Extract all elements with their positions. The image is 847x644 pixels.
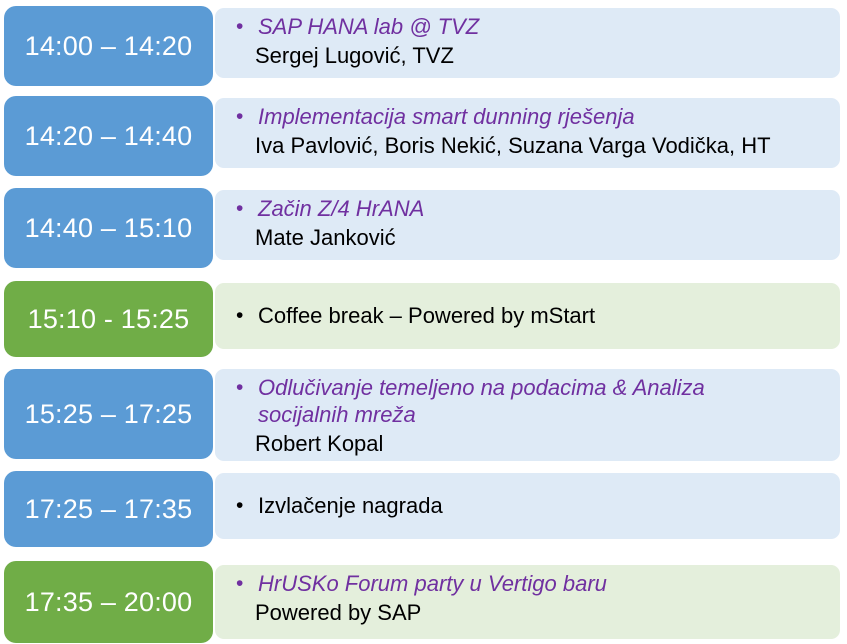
time-slot-badge[interactable]: 17:25 – 17:35 (4, 471, 213, 547)
bullet-icon: • (233, 493, 258, 519)
bullet-icon: • (233, 196, 258, 222)
bullet-icon: • (233, 375, 258, 401)
agenda-row: 15:25 – 17:25 • Odlučivanje temeljeno na… (0, 369, 847, 459)
session-title: Izvlačenje nagrada (258, 493, 443, 520)
session-title: Coffee break – Powered by mStart (258, 303, 595, 330)
session-speaker-line: Mate Janković (233, 223, 828, 252)
session-title-line: • Začin Z/4 HrANA (233, 196, 828, 223)
time-slot-label: 15:25 – 17:25 (25, 399, 193, 430)
time-slot-badge[interactable]: 17:35 – 20:00 (4, 561, 213, 643)
session-title: HrUSKo Forum party u Vertigo baru (258, 571, 607, 598)
session-title-line: • Coffee break – Powered by mStart (233, 303, 595, 330)
session-title-line: • Izvlačenje nagrada (233, 493, 443, 520)
session-speaker: Powered by SAP (255, 598, 421, 627)
session-title-line: • Odlučivanje temeljeno na podacima & An… (233, 375, 828, 429)
time-slot-label: 17:25 – 17:35 (25, 494, 193, 525)
session-panel[interactable]: • Implementacija smart dunning rješenja … (215, 98, 840, 168)
session-panel[interactable]: • HrUSKo Forum party u Vertigo baru Powe… (215, 565, 840, 639)
session-title: Začin Z/4 HrANA (258, 196, 424, 223)
time-slot-label: 15:10 - 15:25 (28, 304, 190, 335)
session-title-line: • SAP HANA lab @ TVZ (233, 14, 828, 41)
time-slot-label: 14:00 – 14:20 (25, 31, 193, 62)
time-slot-badge[interactable]: 14:00 – 14:20 (4, 6, 213, 86)
bullet-icon: • (233, 303, 258, 329)
session-panel[interactable]: • SAP HANA lab @ TVZ Sergej Lugović, TVZ (215, 8, 840, 78)
bullet-icon: • (233, 14, 258, 40)
time-slot-label: 14:40 – 15:10 (25, 213, 193, 244)
session-panel[interactable]: • Odlučivanje temeljeno na podacima & An… (215, 369, 840, 461)
session-title: Odlučivanje temeljeno na podacima & Anal… (258, 375, 705, 429)
agenda-row: 15:10 - 15:25 • Coffee break – Powered b… (0, 281, 847, 357)
agenda-row: 17:35 – 20:00 • HrUSKo Forum party u Ver… (0, 561, 847, 643)
session-speaker: Mate Janković (255, 223, 396, 252)
agenda-row: 14:40 – 15:10 • Začin Z/4 HrANA Mate Jan… (0, 188, 847, 268)
bullet-icon: • (233, 571, 258, 597)
session-panel[interactable]: • Coffee break – Powered by mStart (215, 283, 840, 349)
session-title-line: • Implementacija smart dunning rješenja (233, 104, 828, 131)
time-slot-badge[interactable]: 14:40 – 15:10 (4, 188, 213, 268)
agenda-row: 14:20 – 14:40 • Implementacija smart dun… (0, 96, 847, 176)
session-panel[interactable]: • Začin Z/4 HrANA Mate Janković (215, 190, 840, 260)
agenda-schedule: 14:00 – 14:20 • SAP HANA lab @ TVZ Serge… (0, 0, 847, 644)
session-speaker-line: Iva Pavlović, Boris Nekić, Suzana Varga … (233, 131, 828, 160)
agenda-row: 17:25 – 17:35 • Izvlačenje nagrada (0, 471, 847, 547)
session-speaker-line: Powered by SAP (233, 598, 828, 627)
session-title: Implementacija smart dunning rješenja (258, 104, 635, 131)
session-panel[interactable]: • Izvlačenje nagrada (215, 473, 840, 539)
time-slot-label: 17:35 – 20:00 (25, 587, 193, 618)
session-speaker: Iva Pavlović, Boris Nekić, Suzana Varga … (255, 131, 771, 160)
bullet-icon: • (233, 104, 258, 130)
time-slot-label: 14:20 – 14:40 (25, 121, 193, 152)
session-speaker: Robert Kopal (255, 429, 383, 458)
agenda-row: 14:00 – 14:20 • SAP HANA lab @ TVZ Serge… (0, 6, 847, 86)
session-title: SAP HANA lab @ TVZ (258, 14, 479, 41)
session-speaker-line: Robert Kopal (233, 429, 828, 458)
session-speaker: Sergej Lugović, TVZ (255, 41, 454, 70)
time-slot-badge[interactable]: 15:25 – 17:25 (4, 369, 213, 459)
time-slot-badge[interactable]: 15:10 - 15:25 (4, 281, 213, 357)
time-slot-badge[interactable]: 14:20 – 14:40 (4, 96, 213, 176)
session-speaker-line: Sergej Lugović, TVZ (233, 41, 828, 70)
session-title-line: • HrUSKo Forum party u Vertigo baru (233, 571, 828, 598)
